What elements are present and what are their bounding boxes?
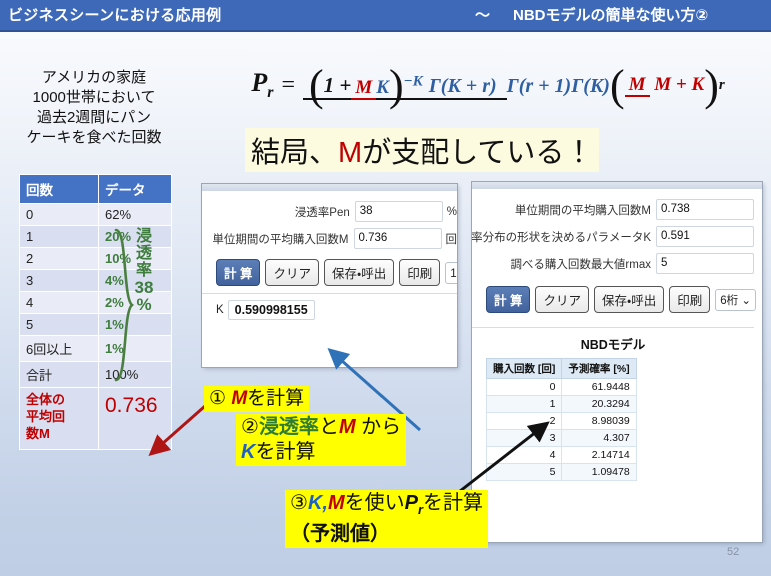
- formula-paren-open: (: [309, 61, 324, 110]
- cell-value: 1%: [99, 336, 172, 362]
- input-k[interactable]: [656, 226, 754, 247]
- table-row-total: 合計 100%: [20, 362, 172, 388]
- field-row-pen: 浸透率Pen %: [202, 201, 457, 222]
- column-header-data: データ: [99, 175, 172, 204]
- step-number: ①: [209, 388, 226, 409]
- unit-m: 回: [446, 231, 458, 247]
- step-line2: （予測値）: [290, 523, 390, 545]
- digits-select-value: 10桁: [450, 268, 457, 280]
- k-result-value: 0.590998155: [228, 300, 315, 320]
- formula-numerator: (1 +MK)−KΓ(K + r): [303, 79, 507, 100]
- page-number: 52: [727, 546, 739, 558]
- step-k: K: [241, 441, 255, 463]
- slide-header: ビジネスシーンにおける応用例 〜 NBDモデルの簡単な使い方②: [0, 0, 771, 32]
- annotation-step-1: ① Mを計算: [204, 386, 309, 412]
- cell-purchase-count: 0: [487, 379, 562, 396]
- cell-purchase-count: 5: [487, 464, 562, 481]
- page-title: ビジネスシーンにおける応用例: [8, 4, 221, 25]
- table-row: 3 4.307: [487, 430, 637, 447]
- step-mid: を使い: [345, 492, 405, 514]
- nbd-formula: Pr = (1 +MK)−KΓ(K + r) Γ(r + 1)Γ(K) ( M …: [228, 44, 748, 126]
- button-row-right: 計 算 クリア 保存・呼出 印刷 6桁 ⌄: [486, 286, 754, 313]
- formula-tail-exponent: r: [719, 77, 725, 94]
- step-m: M: [339, 416, 356, 438]
- table-row: 6回以上 1%: [20, 336, 172, 362]
- cell-probability: 2.14714: [562, 447, 636, 464]
- punchline-before: 結局、: [251, 137, 338, 169]
- penetration-text: 浸透率: [136, 228, 152, 279]
- step-k: K: [308, 492, 322, 514]
- cell-purchase-count: 3: [487, 430, 562, 447]
- step-pr: Pr: [405, 492, 423, 514]
- calculate-button[interactable]: 計 算: [216, 259, 260, 286]
- save-recall-button[interactable]: 保存・呼出: [594, 286, 664, 313]
- formula-one-plus: 1 +: [324, 73, 352, 97]
- calculate-button[interactable]: 計 算: [486, 286, 530, 313]
- formula-lhs-symbol: P: [251, 68, 267, 97]
- formula-equals: =: [281, 72, 295, 99]
- step-mid2: から: [356, 416, 402, 438]
- annotation-step-2: ②浸透率とM からKを計算: [236, 414, 406, 466]
- cell-count: 3: [20, 270, 99, 292]
- field-row-k: 確率分布の形状を決めるパラメータK: [472, 226, 754, 247]
- cell-probability: 4.307: [562, 430, 636, 447]
- cell-mean-label: 全体の 平均回 数M: [20, 388, 99, 450]
- formula-tail-fraction: M M + K: [625, 74, 705, 96]
- step-text: を計算: [423, 492, 483, 514]
- cell-count: 4: [20, 292, 99, 314]
- cell-mean-value: 0.736: [99, 388, 172, 450]
- formula-m-over-k: MK: [351, 77, 389, 99]
- punchline-text: 結局、Mが支配している！: [245, 128, 599, 172]
- cell-purchase-count: 1: [487, 396, 562, 413]
- clear-button[interactable]: クリア: [265, 259, 319, 286]
- k-result-row: K 0.590998155: [216, 300, 457, 320]
- formula-tail-m-plus-k: M + K: [654, 74, 704, 95]
- table-row: 2 8.98039: [487, 413, 637, 430]
- cell-count: 0: [20, 204, 99, 226]
- cell-count: 6回以上: [20, 336, 99, 362]
- cell-count: 1: [20, 226, 99, 248]
- label-m: 単位期間の平均購入回数M: [515, 202, 651, 218]
- formula-tail-paren-close: ): [704, 60, 719, 111]
- button-row-left: 計 算 クリア 保存・呼出 印刷 10桁 ⌄: [216, 259, 457, 286]
- input-pen[interactable]: [355, 201, 443, 222]
- formula-denominator: Γ(r + 1)Γ(K): [507, 73, 610, 97]
- step-m: M: [328, 492, 345, 514]
- chevron-down-icon: ⌄: [741, 295, 751, 307]
- nbd-results-table: 購入回数 [回] 予測確率 [%] 0 61.9448 1 20.3294 2 …: [486, 358, 637, 481]
- print-button[interactable]: 印刷: [669, 286, 710, 313]
- digits-select[interactable]: 10桁 ⌄: [445, 262, 457, 284]
- formula-tail-denominator: M + K: [654, 73, 704, 95]
- table-row-mean: 全体の 平均回 数M 0.736: [20, 388, 172, 450]
- field-row-rmax: 調べる購入回数最大値rmax: [472, 253, 754, 274]
- calculator-panel-nbd: 単位期間の平均購入回数M 確率分布の形状を決めるパラメータK 調べる購入回数最大…: [472, 182, 762, 542]
- step-pr-symbol: P: [405, 492, 418, 514]
- clear-button[interactable]: クリア: [535, 286, 589, 313]
- label-pen: 浸透率Pen: [295, 204, 350, 220]
- cell-probability: 1.09478: [562, 464, 636, 481]
- cell-value: 62%: [99, 204, 172, 226]
- annotation-step-3: ③K,Mを使いPrを計算（予測値）: [285, 490, 488, 548]
- formula-fraction: (1 +MK)−KΓ(K + r) Γ(r + 1)Γ(K): [303, 60, 610, 111]
- cell-value: 100%: [99, 362, 172, 388]
- step-m: M: [231, 388, 247, 409]
- formula-paren-close: ): [389, 61, 404, 110]
- table-header-row: 回数 データ: [20, 175, 172, 204]
- formula-lhs: Pr: [251, 68, 273, 102]
- label-rmax: 調べる購入回数最大値rmax: [510, 256, 651, 272]
- save-recall-button[interactable]: 保存・呼出: [324, 259, 394, 286]
- k-result-label: K: [216, 304, 224, 316]
- results-header-row: 購入回数 [回] 予測確率 [%]: [487, 359, 637, 379]
- formula-tail-paren-open: (: [610, 60, 625, 111]
- formula-gamma-numerator: Γ(K + r): [429, 75, 497, 97]
- step-penetration: 浸透率: [259, 416, 319, 438]
- cell-probability: 61.9448: [562, 379, 636, 396]
- table-row: 4 2.14714: [487, 447, 637, 464]
- table-row: 1 20.3294: [487, 396, 637, 413]
- penetration-unit: %: [132, 296, 156, 313]
- panel-title-strip: [472, 182, 762, 189]
- step-text: を計算: [255, 441, 315, 463]
- results-title: NBDモデル: [472, 334, 754, 353]
- panel-divider: [202, 293, 457, 294]
- punchline-after: が支配している！: [362, 137, 593, 169]
- cell-probability: 8.98039: [562, 413, 636, 430]
- formula-tail-m: M: [625, 74, 650, 97]
- header-subtitle: NBDモデルの簡単な使い方②: [513, 4, 708, 25]
- slide-canvas: ビジネスシーンにおける応用例 〜 NBDモデルの簡単な使い方② アメリカの家庭 …: [0, 0, 771, 576]
- data-caption: アメリカの家庭 1000世帯において 過去2週間にパン ケーキを食べた回数: [14, 68, 174, 148]
- column-header-count: 回数: [20, 175, 99, 204]
- cell-purchase-count: 4: [487, 447, 562, 464]
- table-row: 0 61.9448: [487, 379, 637, 396]
- step-text: を計算: [247, 388, 304, 409]
- penetration-rate-label: 浸透率 38 %: [132, 228, 156, 313]
- field-row-m: 単位期間の平均購入回数M 回: [202, 228, 457, 249]
- input-m[interactable]: [656, 199, 754, 220]
- formula-m: M: [351, 77, 376, 100]
- step-mid: と: [319, 416, 339, 438]
- calculator-panel-k: 浸透率Pen % 単位期間の平均購入回数M 回 計 算 クリア 保存・呼出 印刷…: [202, 184, 457, 367]
- formula-exponent: −K: [404, 73, 423, 89]
- step-number: ③: [290, 492, 308, 514]
- punchline-m: M: [338, 137, 362, 169]
- column-header-probability: 予測確率 [%]: [562, 359, 636, 379]
- digits-select-value: 6桁: [720, 295, 738, 307]
- input-rmax[interactable]: [656, 253, 754, 274]
- step-number: ②: [241, 416, 259, 438]
- table-row: 5 1%: [20, 314, 172, 336]
- cell-probability: 20.3294: [562, 396, 636, 413]
- header-tilde: 〜: [475, 4, 490, 25]
- table-row: 0 62%: [20, 204, 172, 226]
- label-m: 単位期間の平均購入回数M: [212, 231, 348, 247]
- digits-select[interactable]: 6桁 ⌄: [715, 289, 756, 311]
- penetration-value: 38: [132, 279, 156, 296]
- cell-count: 2: [20, 248, 99, 270]
- cell-count: 5: [20, 314, 99, 336]
- cell-count: 合計: [20, 362, 99, 388]
- field-row-m: 単位期間の平均購入回数M: [472, 199, 754, 220]
- column-header-purchase-count: 購入回数 [回]: [487, 359, 562, 379]
- cell-purchase-count: 2: [487, 413, 562, 430]
- formula-lhs-subscript: r: [267, 84, 273, 101]
- table-row: 5 1.09478: [487, 464, 637, 481]
- label-k: 確率分布の形状を決めるパラメータK: [472, 229, 651, 245]
- panel-divider: [472, 327, 754, 328]
- panel-title-strip: [202, 184, 457, 191]
- input-m[interactable]: [354, 228, 442, 249]
- cell-value: 1%: [99, 314, 172, 336]
- print-button[interactable]: 印刷: [399, 259, 440, 286]
- formula-k: K: [376, 76, 389, 98]
- unit-pen: %: [447, 206, 457, 218]
